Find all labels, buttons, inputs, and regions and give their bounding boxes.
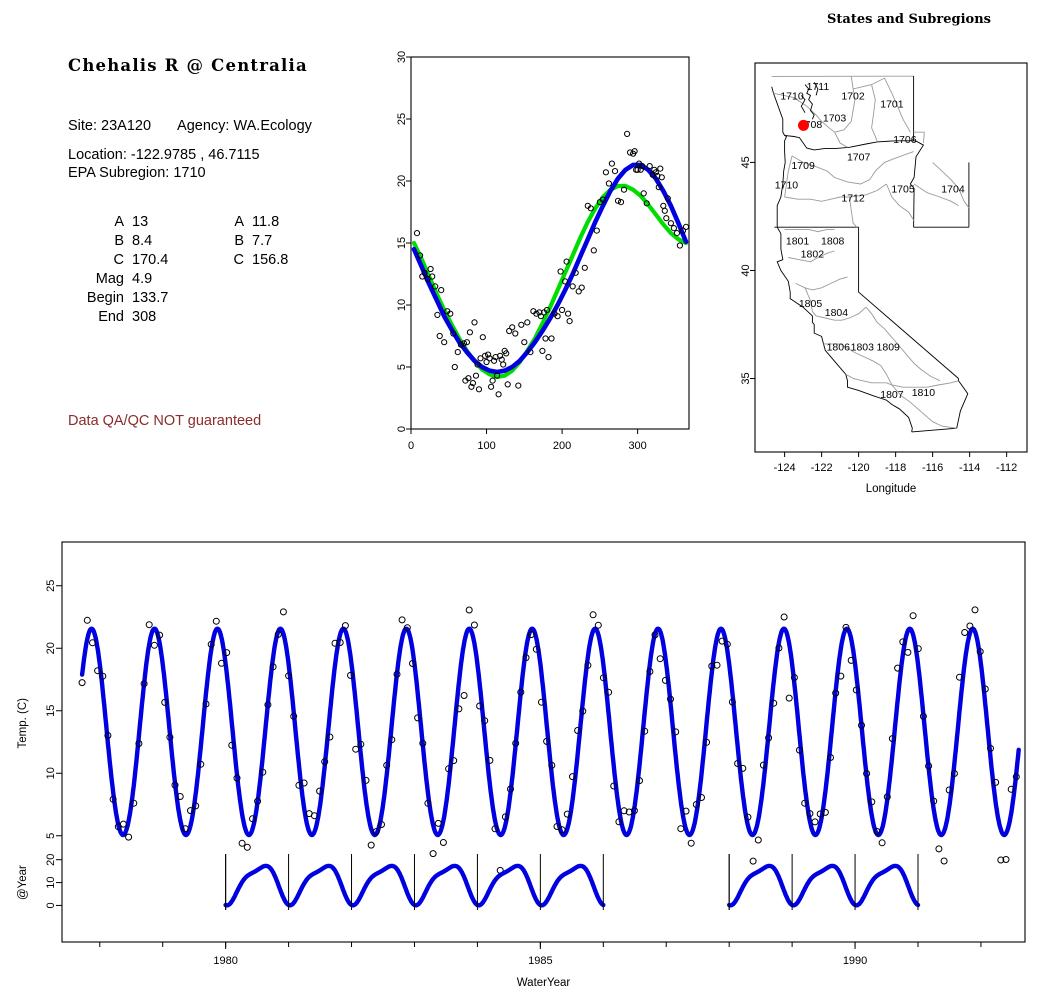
map-path xyxy=(872,85,878,141)
y-tick-label: 15 xyxy=(45,705,57,717)
subregion-label-1712: 1712 xyxy=(841,192,865,204)
map-path xyxy=(859,227,959,378)
subregion-label-1705: 1705 xyxy=(891,184,915,196)
data-point xyxy=(936,846,942,852)
stat-value: 8.4 xyxy=(132,231,218,250)
table-row: C 170.4 C 156.8 xyxy=(68,250,288,269)
data-point xyxy=(213,618,219,624)
data-point xyxy=(472,320,477,325)
data-point xyxy=(516,383,521,388)
data-point xyxy=(566,311,571,316)
data-point xyxy=(480,335,485,340)
stat-value: 4.9 xyxy=(132,269,218,288)
subregion-label-1810: 1810 xyxy=(912,387,936,399)
data-point xyxy=(910,613,916,619)
data-point xyxy=(609,161,614,166)
data-point xyxy=(641,191,646,196)
data-point xyxy=(658,166,663,171)
data-point xyxy=(79,680,85,686)
table-row: End 308 xyxy=(68,307,288,326)
longitude-tick-label: -120 xyxy=(848,462,870,474)
map-title: States and Subregions xyxy=(760,12,1038,27)
stat-label: A xyxy=(68,212,132,231)
stat-value: 133.7 xyxy=(132,288,218,307)
subregion-label-1701: 1701 xyxy=(880,98,904,110)
data-point xyxy=(540,348,545,353)
data-point xyxy=(505,382,510,387)
data-point xyxy=(435,820,441,826)
data-point xyxy=(428,266,433,271)
data-point xyxy=(591,248,596,253)
longitude-tick-label: -124 xyxy=(774,462,796,474)
timeseries-plot: 510152025Temp. (C)198019851990WaterYear0… xyxy=(0,510,1038,1001)
x-axis-title: WaterYear xyxy=(517,977,571,989)
stat-value: 170.4 xyxy=(132,250,218,269)
y-tick-label: 5 xyxy=(396,364,408,370)
data-point xyxy=(603,170,608,175)
location-label: Location: -122.9785 , 46.7115 xyxy=(68,147,312,163)
site-agency-row: Site: 23A120 Agency: WA.Ecology xyxy=(68,118,312,134)
data-point xyxy=(558,269,563,274)
x-tick-label: 0 xyxy=(408,440,414,452)
table-row: B 8.4 B 7.7 xyxy=(68,231,288,250)
stat-label: End xyxy=(68,307,132,326)
data-point xyxy=(461,693,467,699)
stat-value: 13 xyxy=(132,212,218,231)
data-point xyxy=(812,819,818,825)
seasonal-plot: 0510152025300100200300 xyxy=(390,45,710,485)
data-point xyxy=(664,216,669,221)
data-point xyxy=(244,844,250,850)
data-point xyxy=(467,330,472,335)
data-point xyxy=(582,265,587,270)
data-point xyxy=(442,340,447,345)
data-point xyxy=(510,325,515,330)
data-point xyxy=(525,320,530,325)
data-point xyxy=(625,131,630,136)
data-point xyxy=(750,858,756,864)
subregion-label-1710: 1710 xyxy=(780,91,804,103)
data-point xyxy=(781,614,787,620)
x-tick-label: 1985 xyxy=(528,955,552,967)
map-path xyxy=(772,87,913,432)
stat-value-2: 156.8 xyxy=(252,250,288,269)
subregion-label-1802: 1802 xyxy=(801,249,825,261)
stat-label-2: B xyxy=(218,231,252,250)
subregion-label-1805: 1805 xyxy=(799,298,823,310)
map-path xyxy=(796,277,848,290)
inset-y-tick-label: 0 xyxy=(45,902,57,908)
data-point xyxy=(439,288,444,293)
inset-y-tick-label: 10 xyxy=(45,876,57,888)
subregion-label-1704: 1704 xyxy=(941,184,965,196)
longitude-tick-label: -114 xyxy=(959,462,980,474)
stats-table: A 13 A 11.8 B 8.4 B 7.7 C 170.4 C 156.8 … xyxy=(68,212,288,326)
data-point xyxy=(905,649,911,655)
subregion-label-1806: 1806 xyxy=(827,341,851,353)
stat-label-2 xyxy=(218,307,252,326)
stat-label-2 xyxy=(218,288,252,307)
data-point xyxy=(674,231,679,236)
data-point xyxy=(786,695,792,701)
stat-value-2: 7.7 xyxy=(252,231,288,250)
data-point xyxy=(546,355,551,360)
data-point xyxy=(120,821,126,827)
data-point xyxy=(280,609,286,615)
agency-label: Agency: WA.Ecology xyxy=(177,118,312,134)
data-point xyxy=(677,243,682,248)
epa-subregion-label: EPA Subregion: 1710 xyxy=(68,165,312,181)
data-point xyxy=(430,851,436,857)
map-path xyxy=(914,76,916,141)
stat-label-2: C xyxy=(218,250,252,269)
table-row: Mag 4.9 xyxy=(68,269,288,288)
data-point xyxy=(570,284,575,289)
longitude-tick-label: -112 xyxy=(996,462,1017,474)
data-point xyxy=(647,164,652,169)
subregion-label-1702: 1702 xyxy=(841,91,865,103)
subregion-label-1709: 1709 xyxy=(791,160,815,172)
data-point xyxy=(941,858,947,864)
subregion-label-1809: 1809 xyxy=(877,341,901,353)
latitude-tick-label: 40 xyxy=(740,264,752,276)
stat-value-2 xyxy=(252,288,288,307)
data-point xyxy=(972,607,978,613)
data-point xyxy=(567,319,572,324)
table-row: A 13 A 11.8 xyxy=(68,212,288,231)
y-axis-title: Temp. (C) xyxy=(17,698,29,749)
data-point xyxy=(476,387,481,392)
data-point xyxy=(353,746,359,752)
subregion-label-1711: 1711 xyxy=(807,81,830,93)
site-meta-block: Site: 23A120 Agency: WA.Ecology Location… xyxy=(68,118,312,181)
data-point xyxy=(440,840,446,846)
seasonal-plot-svg: 0510152025300100200300 xyxy=(390,45,710,485)
x-tick-label: 200 xyxy=(553,440,571,452)
map-svg: -124-122-120-118-116-114-112354045Longit… xyxy=(740,27,1038,497)
data-point xyxy=(579,285,584,290)
y-tick-label: 5 xyxy=(45,833,57,839)
data-point xyxy=(471,622,477,628)
y-tick-label: 10 xyxy=(396,299,408,311)
data-point xyxy=(549,336,554,341)
map-path xyxy=(785,229,835,231)
x-tick-label: 100 xyxy=(477,440,495,452)
data-point xyxy=(522,340,527,345)
subregion-label-1801: 1801 xyxy=(786,236,810,248)
y-tick-label: 25 xyxy=(45,580,57,592)
site-title: Chehalis R @ Centralia xyxy=(68,56,308,75)
longitude-tick-label: -122 xyxy=(811,462,833,474)
qa-qc-warning: Data QA/QC NOT guaranteed xyxy=(68,413,261,429)
stat-label-2 xyxy=(218,269,252,288)
data-point xyxy=(399,617,405,623)
data-point xyxy=(671,226,676,231)
inset-y-tick-label: 20 xyxy=(45,854,57,866)
map-panel: States and Subregions -124-122-120-118-1… xyxy=(740,12,1038,497)
statistics-table: A 13 A 11.8 B 8.4 B 7.7 C 170.4 C 156.8 … xyxy=(68,212,288,326)
subregion-label-1807: 1807 xyxy=(880,389,904,401)
data-point xyxy=(368,842,374,848)
stat-value: 308 xyxy=(132,307,218,326)
subregion-label-1706: 1706 xyxy=(893,134,917,146)
subregion-label-1703: 1703 xyxy=(823,112,847,124)
map-path xyxy=(785,197,850,201)
stat-value-2 xyxy=(252,307,288,326)
data-point xyxy=(437,333,442,338)
data-point xyxy=(661,203,666,208)
subregion-label-1804: 1804 xyxy=(825,307,849,319)
x-tick-label: 1990 xyxy=(843,955,867,967)
data-point xyxy=(879,840,885,846)
y-tick-label: 25 xyxy=(396,113,408,125)
data-point xyxy=(668,221,673,226)
data-point xyxy=(490,378,495,383)
map-path xyxy=(853,78,884,89)
data-point xyxy=(560,307,565,312)
x-tick-label: 1980 xyxy=(213,955,237,967)
data-point xyxy=(455,350,460,355)
y-tick-label: 20 xyxy=(396,175,408,187)
subregion-label-1710: 1710 xyxy=(775,179,799,191)
stat-label: C xyxy=(68,250,132,269)
stat-label: B xyxy=(68,231,132,250)
longitude-tick-label: -118 xyxy=(885,462,906,474)
subregion-label-1803: 1803 xyxy=(851,341,875,353)
data-point xyxy=(151,642,157,648)
data-point xyxy=(678,826,684,832)
y-tick-label: 30 xyxy=(396,51,408,63)
stat-value-2: 11.8 xyxy=(252,212,288,231)
y-tick-label: 0 xyxy=(396,426,408,432)
data-point xyxy=(662,208,667,213)
site-marker xyxy=(799,120,809,130)
inset-y-axis-title: @Year xyxy=(17,865,29,900)
data-point xyxy=(466,607,472,613)
data-point xyxy=(84,617,90,623)
data-point xyxy=(435,312,440,317)
data-point xyxy=(657,656,663,662)
x-tick-label: 300 xyxy=(628,440,646,452)
longitude-tick-label: -116 xyxy=(922,462,943,474)
stat-label: Begin xyxy=(68,288,132,307)
data-point xyxy=(606,181,611,186)
stat-label: Mag xyxy=(68,269,132,288)
map-path xyxy=(835,132,848,147)
data-point xyxy=(594,228,599,233)
data-point xyxy=(496,392,501,397)
data-point xyxy=(612,169,617,174)
data-point xyxy=(590,612,596,618)
data-point xyxy=(543,336,548,341)
data-point xyxy=(126,834,132,840)
data-point xyxy=(452,364,457,369)
data-point xyxy=(414,231,419,236)
latitude-tick-label: 35 xyxy=(740,372,752,384)
stat-value-2 xyxy=(252,269,288,288)
data-point xyxy=(473,373,478,378)
timeseries-plot-svg: 510152025Temp. (C)198019851990WaterYear0… xyxy=(0,510,1038,1001)
y-tick-label: 10 xyxy=(45,767,57,779)
subregion-label-1808: 1808 xyxy=(821,236,845,248)
data-point xyxy=(513,331,518,336)
data-point xyxy=(489,384,494,389)
plot-box xyxy=(411,57,689,429)
data-point xyxy=(962,630,968,636)
site-id-label: Site: 23A120 xyxy=(68,118,151,134)
data-point xyxy=(595,622,601,628)
data-point xyxy=(146,622,152,628)
data-point xyxy=(239,840,245,846)
blue-fit-curve xyxy=(82,629,1019,835)
map-path xyxy=(846,374,892,385)
data-point xyxy=(501,362,506,367)
data-point xyxy=(755,837,761,843)
table-row: Begin 133.7 xyxy=(68,288,288,307)
map-geometry: 1702170117031711171017081706170717091710… xyxy=(772,76,969,432)
data-point xyxy=(688,840,694,846)
inset-curve xyxy=(729,866,918,905)
subregion-label-1707: 1707 xyxy=(847,151,871,163)
latitude-tick-label: 45 xyxy=(740,156,752,168)
y-tick-label: 15 xyxy=(396,237,408,249)
green-fit-curve xyxy=(414,186,686,377)
map-xlabel: Longitude xyxy=(866,483,917,495)
data-point xyxy=(519,322,524,327)
y-tick-label: 20 xyxy=(45,642,57,654)
data-point xyxy=(683,224,688,229)
stat-label-2: A xyxy=(218,212,252,231)
